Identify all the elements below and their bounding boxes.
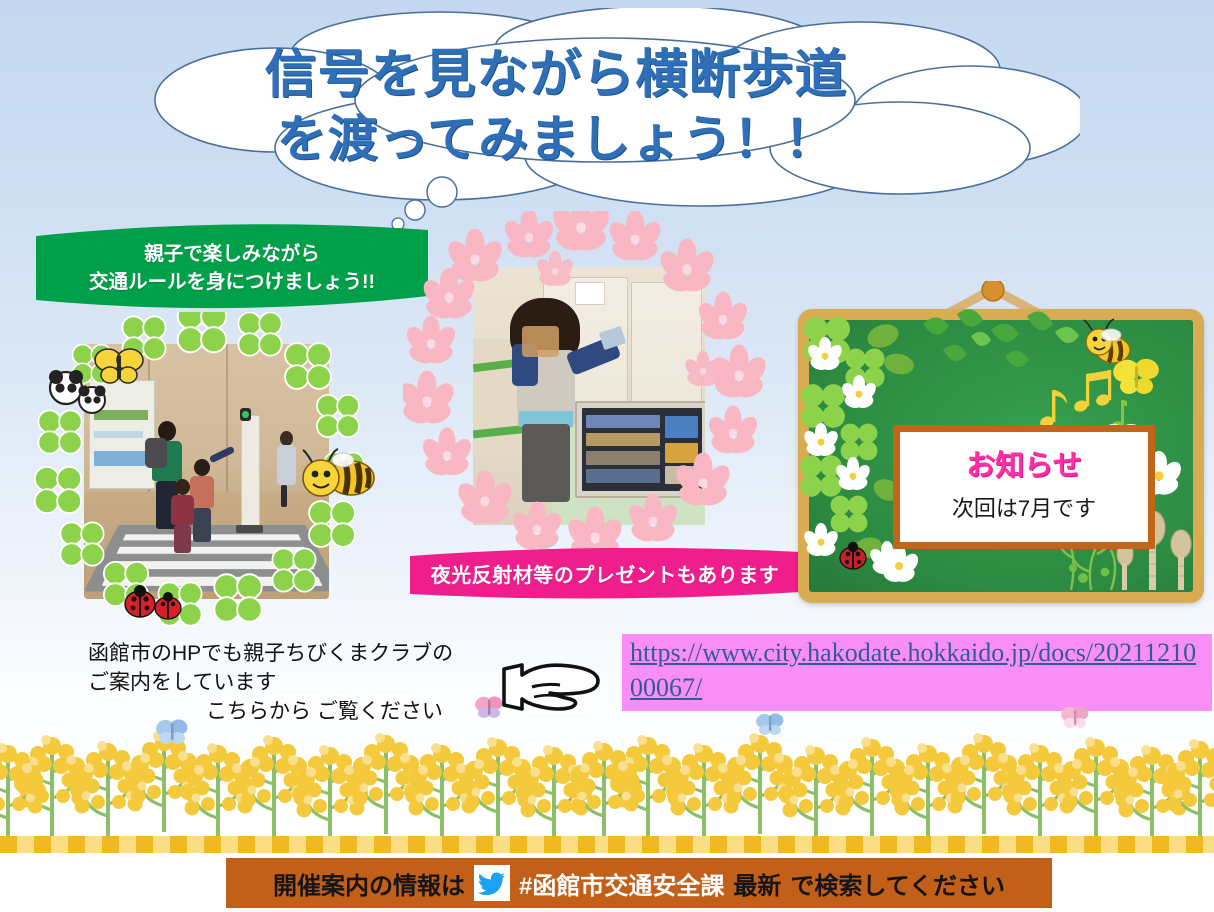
- green-banner-line-2: 交通ルールを身につけましょう!!: [36, 269, 428, 297]
- photo-left: [44, 330, 364, 610]
- notice-box: お知らせ 次回は7月です: [893, 425, 1155, 549]
- ivy-icon: [905, 306, 1125, 386]
- green-banner-text: 親子で楽しみながら 交通ルールを身につけましょう!!: [36, 241, 428, 296]
- board-flower-bottom-icon: [875, 542, 923, 590]
- board-butterfly-yellow-icon: [1109, 356, 1165, 398]
- bottom-search-bar: 開催案内の情報は #函館市交通安全課 最新 で検索してください: [226, 858, 1052, 908]
- url-link-box[interactable]: https://www.city.hakodate.hokkaido.jp/do…: [622, 634, 1212, 711]
- chalkboard: お知らせ 次回は7月です: [790, 283, 1190, 588]
- bottom-bar-prefix: 開催案内の情報は: [273, 866, 465, 901]
- rapeseed-field: [0, 718, 1214, 843]
- bottom-bar-keyword: 最新: [733, 866, 781, 901]
- url-link-text[interactable]: https://www.city.hakodate.hokkaido.jp/do…: [630, 636, 1208, 705]
- bottom-bar-hashtag: #函館市交通安全課: [519, 866, 724, 901]
- ground-strip-right: [608, 836, 1214, 853]
- chalkboard-surface: お知らせ 次回は7月です: [798, 309, 1204, 603]
- board-bee-icon: [1077, 316, 1147, 374]
- board-ladybug-icon: [833, 538, 873, 572]
- pink-banner: 夜光反射材等のプレゼントもあります: [410, 548, 800, 600]
- green-banner: 親子で楽しみながら 交通ルールを身につけましょう!!: [36, 224, 428, 316]
- pointing-hand-icon: [498, 657, 602, 715]
- thought-cloud: [140, 8, 1080, 208]
- photo-left-image: [84, 344, 329, 599]
- green-banner-line-1: 親子で楽しみながら: [36, 241, 428, 269]
- bottom-bar-suffix: で検索してください: [790, 866, 1005, 901]
- hp-note-line-1: 函館市のHPでも親子ちびくまクラブの: [88, 640, 528, 669]
- notice-title: お知らせ: [966, 452, 1081, 481]
- pink-banner-text: 夜光反射材等のプレゼントもあります: [410, 559, 800, 588]
- photo-center-image: [473, 267, 705, 525]
- notice-text: 次回は7月です: [952, 491, 1096, 523]
- twitter-icon[interactable]: [474, 865, 510, 901]
- poster-canvas: 信号を見ながら横断歩道 を渡ってみましょう！！ 親子で楽しみながら 交通ルールを…: [0, 0, 1214, 912]
- hp-note: 函館市のHPでも親子ちびくまクラブの ご案内をしています こちらから ご覧くださ…: [88, 640, 528, 727]
- photo-center: [415, 225, 755, 565]
- hp-note-line-2: ご案内をしています: [88, 669, 528, 698]
